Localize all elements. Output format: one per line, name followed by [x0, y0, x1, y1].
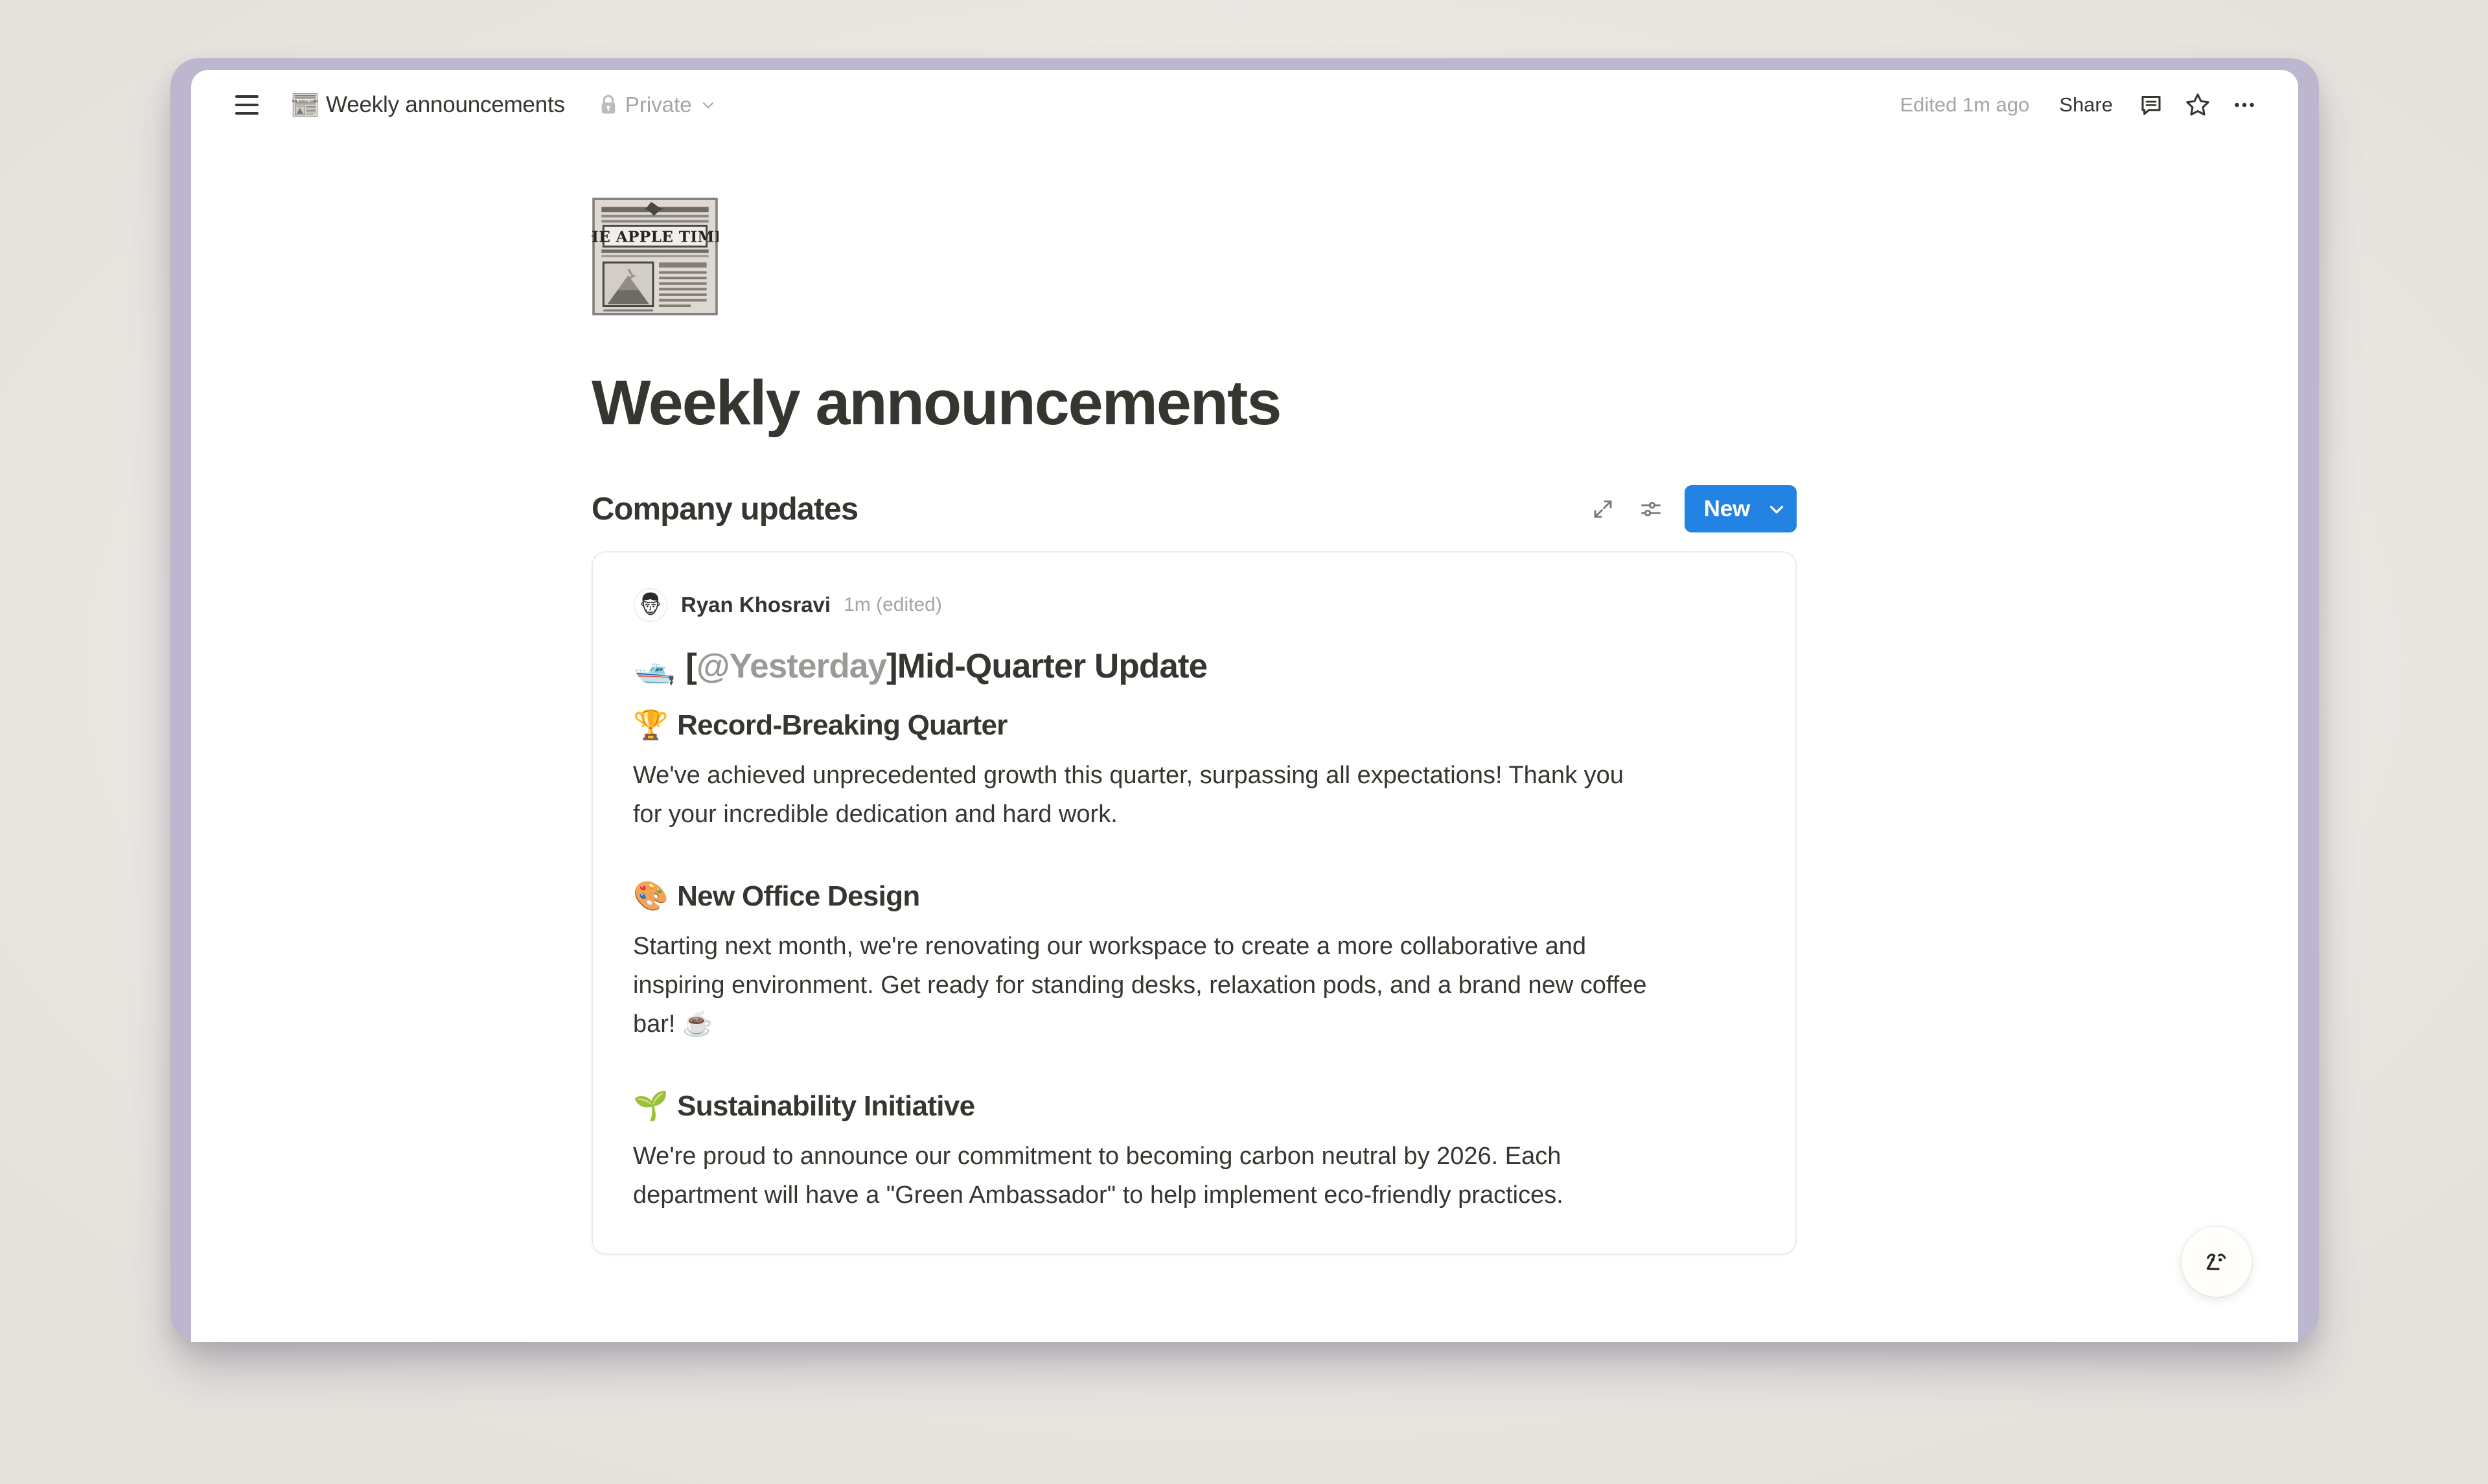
- section-heading-text: New Office Design: [677, 880, 919, 912]
- share-button[interactable]: Share: [2047, 87, 2125, 123]
- hamburger-line: [235, 95, 259, 98]
- app-window: THE APPLE TIMES Weekly ann: [191, 70, 2298, 1342]
- post-card[interactable]: Ryan Khosravi 1m (edited) 🛥️[@Yesterday]…: [592, 551, 1797, 1255]
- top-bar-left-group: THE APPLE TIMES Weekly ann: [191, 87, 724, 123]
- sliders-settings-icon[interactable]: [1633, 491, 1669, 527]
- comment-icon[interactable]: [2131, 85, 2171, 125]
- section-heading-text: Record-Breaking Quarter: [677, 709, 1008, 741]
- star-icon[interactable]: [2178, 85, 2218, 125]
- post-heading-bracket-open: [: [685, 646, 697, 686]
- post-timestamp: 1m (edited): [844, 594, 942, 616]
- section-body-record-breaking-quarter[interactable]: We've achieved unprecedented growth this…: [633, 756, 1657, 834]
- chevron-down-icon: [699, 96, 717, 114]
- hamburger-line: [235, 112, 259, 115]
- ellipsis-icon[interactable]: [2224, 85, 2264, 125]
- last-edited-label[interactable]: Edited 1m ago: [1891, 88, 2038, 122]
- breadcrumb[interactable]: THE APPLE TIMES Weekly ann: [286, 88, 571, 122]
- page-title[interactable]: Weekly announcements: [592, 368, 1797, 439]
- motor-boat-emoji-icon: 🛥️: [633, 646, 675, 686]
- expand-diagonal-icon[interactable]: [1585, 491, 1621, 527]
- lock-icon: [599, 94, 618, 116]
- top-bar-right-group: Edited 1m ago Share: [1891, 85, 2264, 125]
- post-heading-rest: Mid-Quarter Update: [897, 646, 1208, 686]
- hamburger-line: [235, 104, 259, 106]
- new-button-label: New: [1685, 496, 1757, 522]
- section-heading-text: Sustainability Initiative: [677, 1090, 974, 1122]
- page-scroll-area[interactable]: THE APPLE TIMES: [191, 140, 2298, 1342]
- section-body-new-office-design[interactable]: Starting next month, we're renovating ou…: [633, 927, 1657, 1044]
- spacer: [633, 1044, 1755, 1067]
- svg-text:THE APPLE TIMES: THE APPLE TIMES: [292, 99, 318, 102]
- date-mention[interactable]: @Yesterday: [697, 646, 886, 686]
- hamburger-menu-icon[interactable]: [229, 87, 265, 123]
- post-heading-bracket-close: ]: [886, 646, 897, 686]
- database-actions: New: [1585, 485, 1797, 532]
- top-bar: THE APPLE TIMES Weekly ann: [191, 70, 2298, 140]
- avatar[interactable]: [633, 588, 668, 622]
- section-heading-sustainability-initiative[interactable]: 🌱Sustainability Initiative: [633, 1089, 1755, 1123]
- privacy-selector[interactable]: Private: [592, 89, 724, 121]
- seedling-emoji-icon: 🌱: [633, 1090, 668, 1123]
- page-newspaper-icon[interactable]: THE APPLE TIMES: [592, 193, 719, 320]
- database-header: Company updates: [592, 481, 1797, 537]
- trophy-emoji-icon: 🏆: [633, 709, 668, 742]
- new-button[interactable]: New: [1685, 485, 1797, 532]
- breadcrumb-title: Weekly announcements: [326, 92, 565, 118]
- newspaper-emoji-icon: THE APPLE TIMES: [292, 92, 318, 118]
- privacy-label: Private: [625, 93, 692, 117]
- section-heading-record-breaking-quarter[interactable]: 🏆Record-Breaking Quarter: [633, 708, 1755, 742]
- notion-ai-face-icon[interactable]: [2182, 1227, 2252, 1297]
- section-heading-new-office-design[interactable]: 🎨New Office Design: [633, 879, 1755, 913]
- svg-text:THE APPLE TIMES: THE APPLE TIMES: [592, 228, 719, 245]
- artist-palette-emoji-icon: 🎨: [633, 880, 668, 913]
- spacer: [633, 834, 1755, 857]
- post-heading[interactable]: 🛥️[@Yesterday] Mid-Quarter Update: [633, 646, 1755, 686]
- post-meta: Ryan Khosravi 1m (edited): [633, 588, 1755, 622]
- new-button-chevron-down-icon[interactable]: [1757, 485, 1797, 532]
- database-title[interactable]: Company updates: [592, 491, 858, 527]
- post-author-name[interactable]: Ryan Khosravi: [681, 593, 831, 617]
- section-body-sustainability-initiative[interactable]: We're proud to announce our commitment t…: [633, 1137, 1657, 1215]
- page-content: THE APPLE TIMES: [592, 140, 1797, 1255]
